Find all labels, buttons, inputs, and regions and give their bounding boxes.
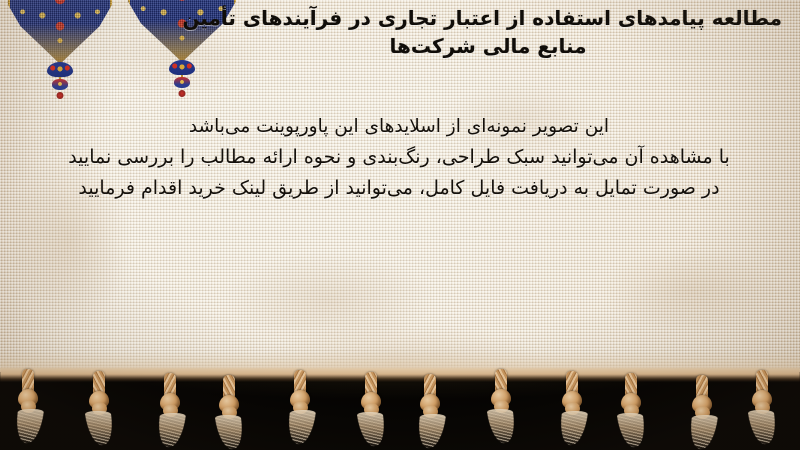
tassel-frayed-ends [85,411,116,445]
tassel-frayed-ends [286,410,316,444]
slide-title-line-2: منابع مالی شرکت‌ها [194,32,782,60]
tassel-frayed-ends [688,415,718,449]
slide-body-line-1: این تصویر نمونه‌ای از اسلایدهای این پاور… [8,112,790,142]
carpet-tassel [82,371,116,445]
slide-body-line-2: با مشاهده آن می‌توانید سبک طراحی، رنگ‌بن… [8,142,790,173]
tassel-frayed-ends [357,412,388,446]
tassel-frayed-ends [416,414,446,448]
carpet-tassel [354,372,388,446]
slide-body-line-3: در صورت تمایل به دریافت فایل کامل، می‌تو… [8,173,790,204]
tassel-frayed-ends [215,415,246,449]
carpet-tassel [745,370,779,444]
tassel-frayed-ends [14,409,44,443]
slide-text-layer: مطالعه پیامدهای استفاده از اعتبار تجاری … [0,0,800,382]
tassel-frayed-ends [558,411,588,445]
tassel-frayed-ends [748,410,779,444]
carpet-tassel [11,369,45,443]
carpet-tassel [614,373,648,447]
slide-title: مطالعه پیامدهای استفاده از اعتبار تجاری … [194,4,782,61]
tassel-frayed-ends [487,409,518,443]
slide-body-text: این تصویر نمونه‌ای از اسلایدهای این پاور… [8,112,790,204]
presentation-slide: مطالعه پیامدهای استفاده از اعتبار تجاری … [0,0,800,450]
carpet-tassel [283,370,317,444]
tassel-frayed-ends [617,413,648,447]
slide-title-line-1: مطالعه پیامدهای استفاده از اعتبار تجاری … [194,4,782,32]
carpet-tassel [212,375,246,449]
carpet-tassel [685,375,719,449]
carpet-tassel [153,373,187,447]
carpet-tassel-row [0,372,800,450]
tassel-frayed-ends [156,413,186,447]
carpet-tassel [555,371,589,445]
carpet-tassel [484,369,518,443]
carpet-tassel [413,374,447,448]
